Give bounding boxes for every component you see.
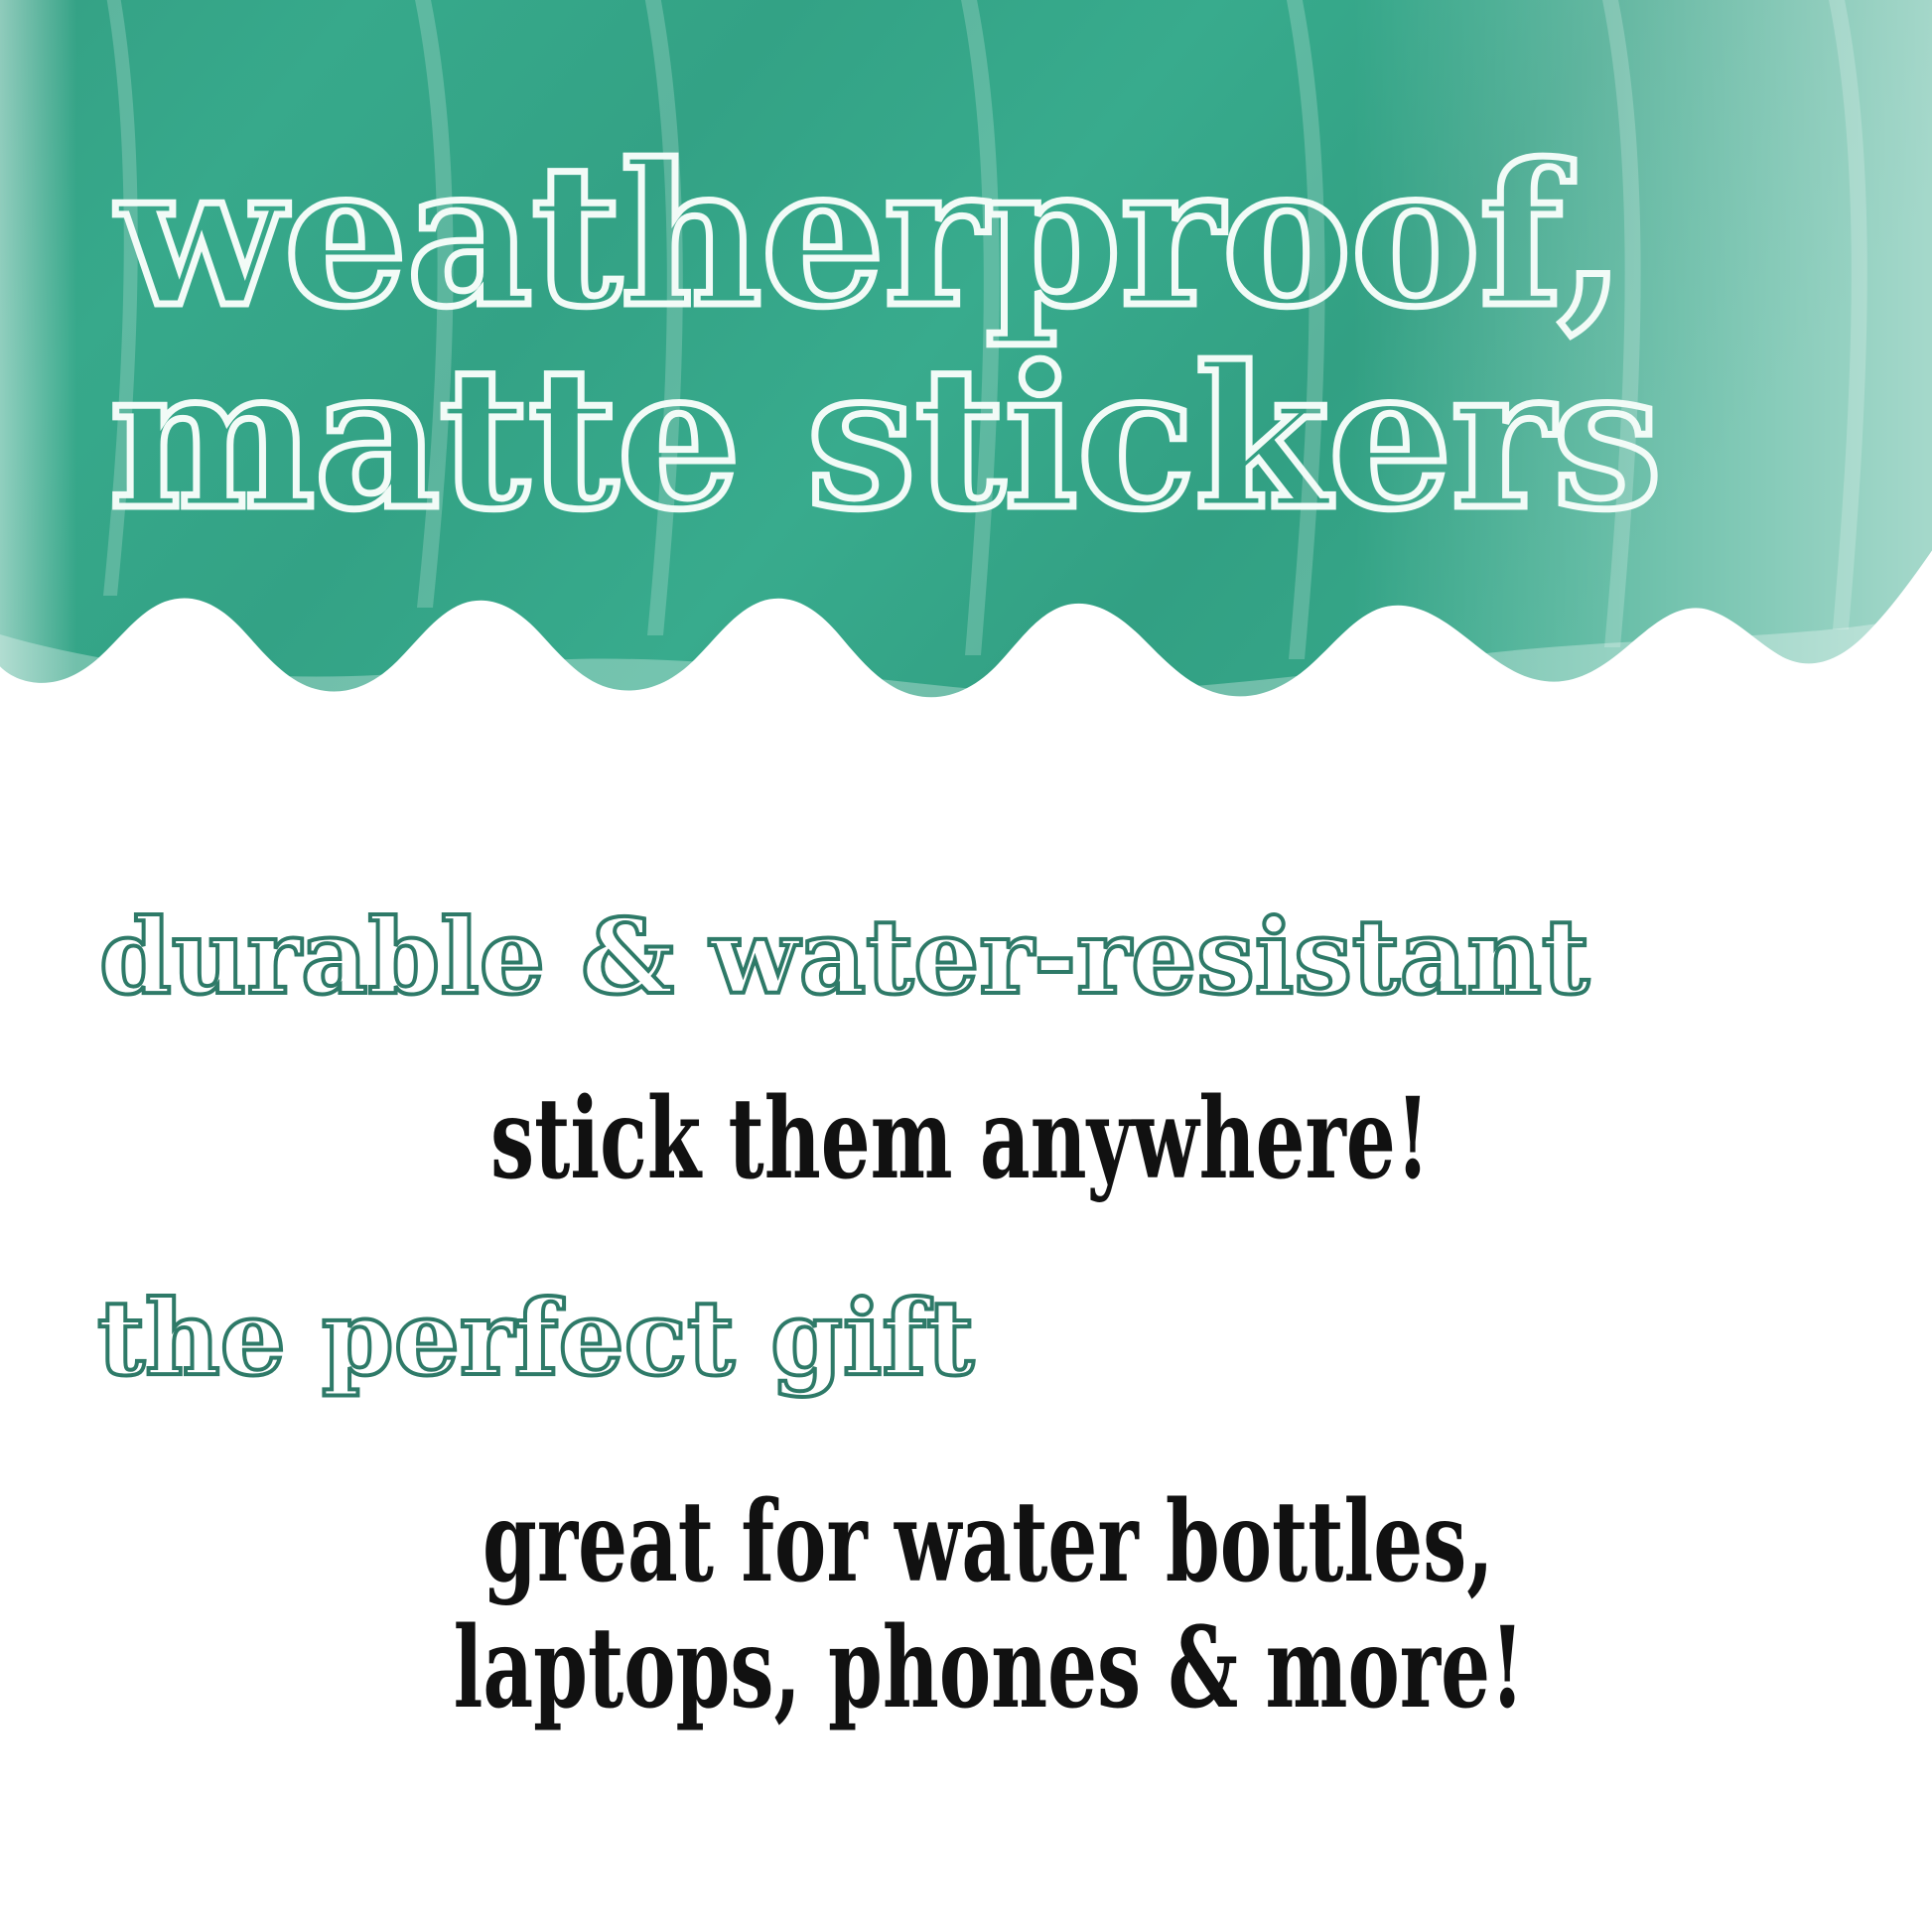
headline-line-1: weatherproof,	[117, 141, 1864, 332]
sticker-promo-graphic: weatherproof, matte stickers durable & w…	[0, 0, 1932, 1932]
feature-detail-great-line-2: laptops, phones & more!	[454, 1607, 1525, 1729]
feature-detail-great-line-1: great for water bottles,	[483, 1477, 1494, 1607]
headline-line-2: matte stickers	[109, 344, 1864, 534]
headline-block: weatherproof, matte stickers	[117, 141, 1864, 534]
feature-heading-gift: the perfect gift	[97, 1287, 974, 1390]
feature-heading-durable: durable & water-resistant	[99, 905, 1589, 1009]
feature-detail-great: great for water bottles, laptops, phones…	[483, 1481, 1524, 1729]
feature-detail-anywhere: stick them anywhere!	[490, 1078, 1430, 1200]
